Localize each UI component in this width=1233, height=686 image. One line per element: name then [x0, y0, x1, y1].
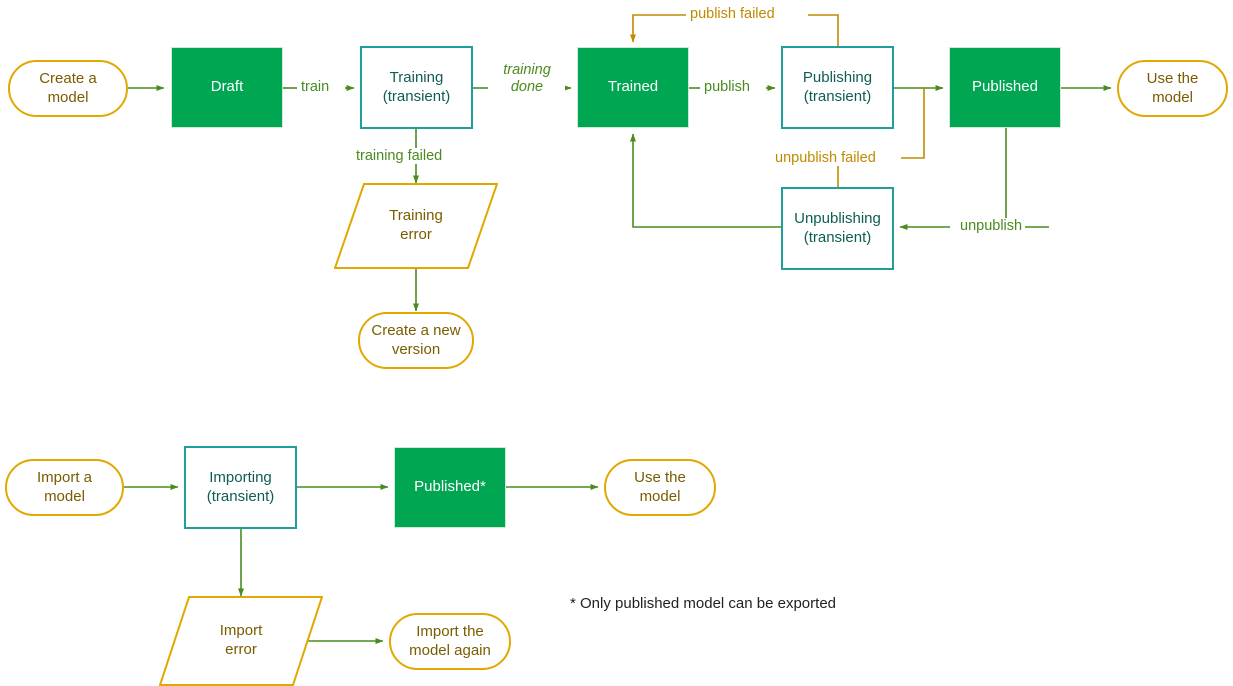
node-label: Training (transient) [383, 69, 451, 107]
node-label: Draft [211, 78, 244, 97]
node-label: Unpublishing (transient) [794, 210, 881, 248]
node-training-error[interactable]: Training error [334, 183, 498, 269]
node-label: Import the model again [409, 623, 491, 661]
edge-label-publish: publish [701, 79, 753, 95]
node-draft[interactable]: Draft [171, 47, 283, 128]
node-label: Published [972, 78, 1038, 97]
node-create-a-model[interactable]: Create a model [8, 60, 128, 117]
node-label: Published* [414, 478, 486, 497]
node-label: Import a model [37, 469, 92, 507]
diagram-canvas: Create a model Draft Training (transient… [0, 0, 1233, 686]
edge-label-training-done: training done [489, 62, 565, 95]
node-unpublishing-transient[interactable]: Unpublishing (transient) [781, 187, 894, 270]
node-published[interactable]: Published [949, 47, 1061, 128]
node-import-error[interactable]: Import error [159, 596, 323, 686]
edge-label-unpublish-failed: unpublish failed [772, 150, 879, 166]
node-label: Trained [608, 78, 658, 97]
node-published-imported[interactable]: Published* [394, 447, 506, 528]
edge-unpublishing-to-trained-path [633, 134, 781, 227]
node-label: Training error [389, 207, 443, 245]
edge-publish-failed-path-a [808, 15, 838, 46]
edge-label-publish-failed: publish failed [687, 6, 778, 22]
node-use-the-model-2[interactable]: Use the model [604, 459, 716, 516]
node-trained[interactable]: Trained [577, 47, 689, 128]
node-importing-transient[interactable]: Importing (transient) [184, 446, 297, 529]
edge-publish-failed-path-b [633, 15, 686, 42]
footnote-text: * Only published model can be exported [570, 595, 836, 612]
node-label: Import error [220, 622, 263, 660]
node-create-a-new-version[interactable]: Create a new version [358, 312, 474, 369]
node-use-the-model[interactable]: Use the model [1117, 60, 1228, 117]
node-label: Create a new version [371, 322, 460, 360]
node-import-a-model[interactable]: Import a model [5, 459, 124, 516]
edge-unpublish-failed-path-a [901, 88, 924, 158]
node-label: Use the model [634, 469, 686, 507]
node-training-transient[interactable]: Training (transient) [360, 46, 473, 129]
node-import-the-model-again[interactable]: Import the model again [389, 613, 511, 670]
edge-label-unpublish: unpublish [957, 218, 1025, 234]
node-label: Use the model [1147, 70, 1199, 108]
node-label: Importing (transient) [207, 469, 275, 507]
edge-label-train: train [298, 79, 332, 95]
node-publishing-transient[interactable]: Publishing (transient) [781, 46, 894, 129]
node-label: Publishing (transient) [803, 69, 872, 107]
edge-label-training-failed: training failed [353, 148, 445, 164]
edge-published-to-unpublishing-path-a [1006, 128, 1049, 227]
node-label: Create a model [39, 70, 97, 108]
